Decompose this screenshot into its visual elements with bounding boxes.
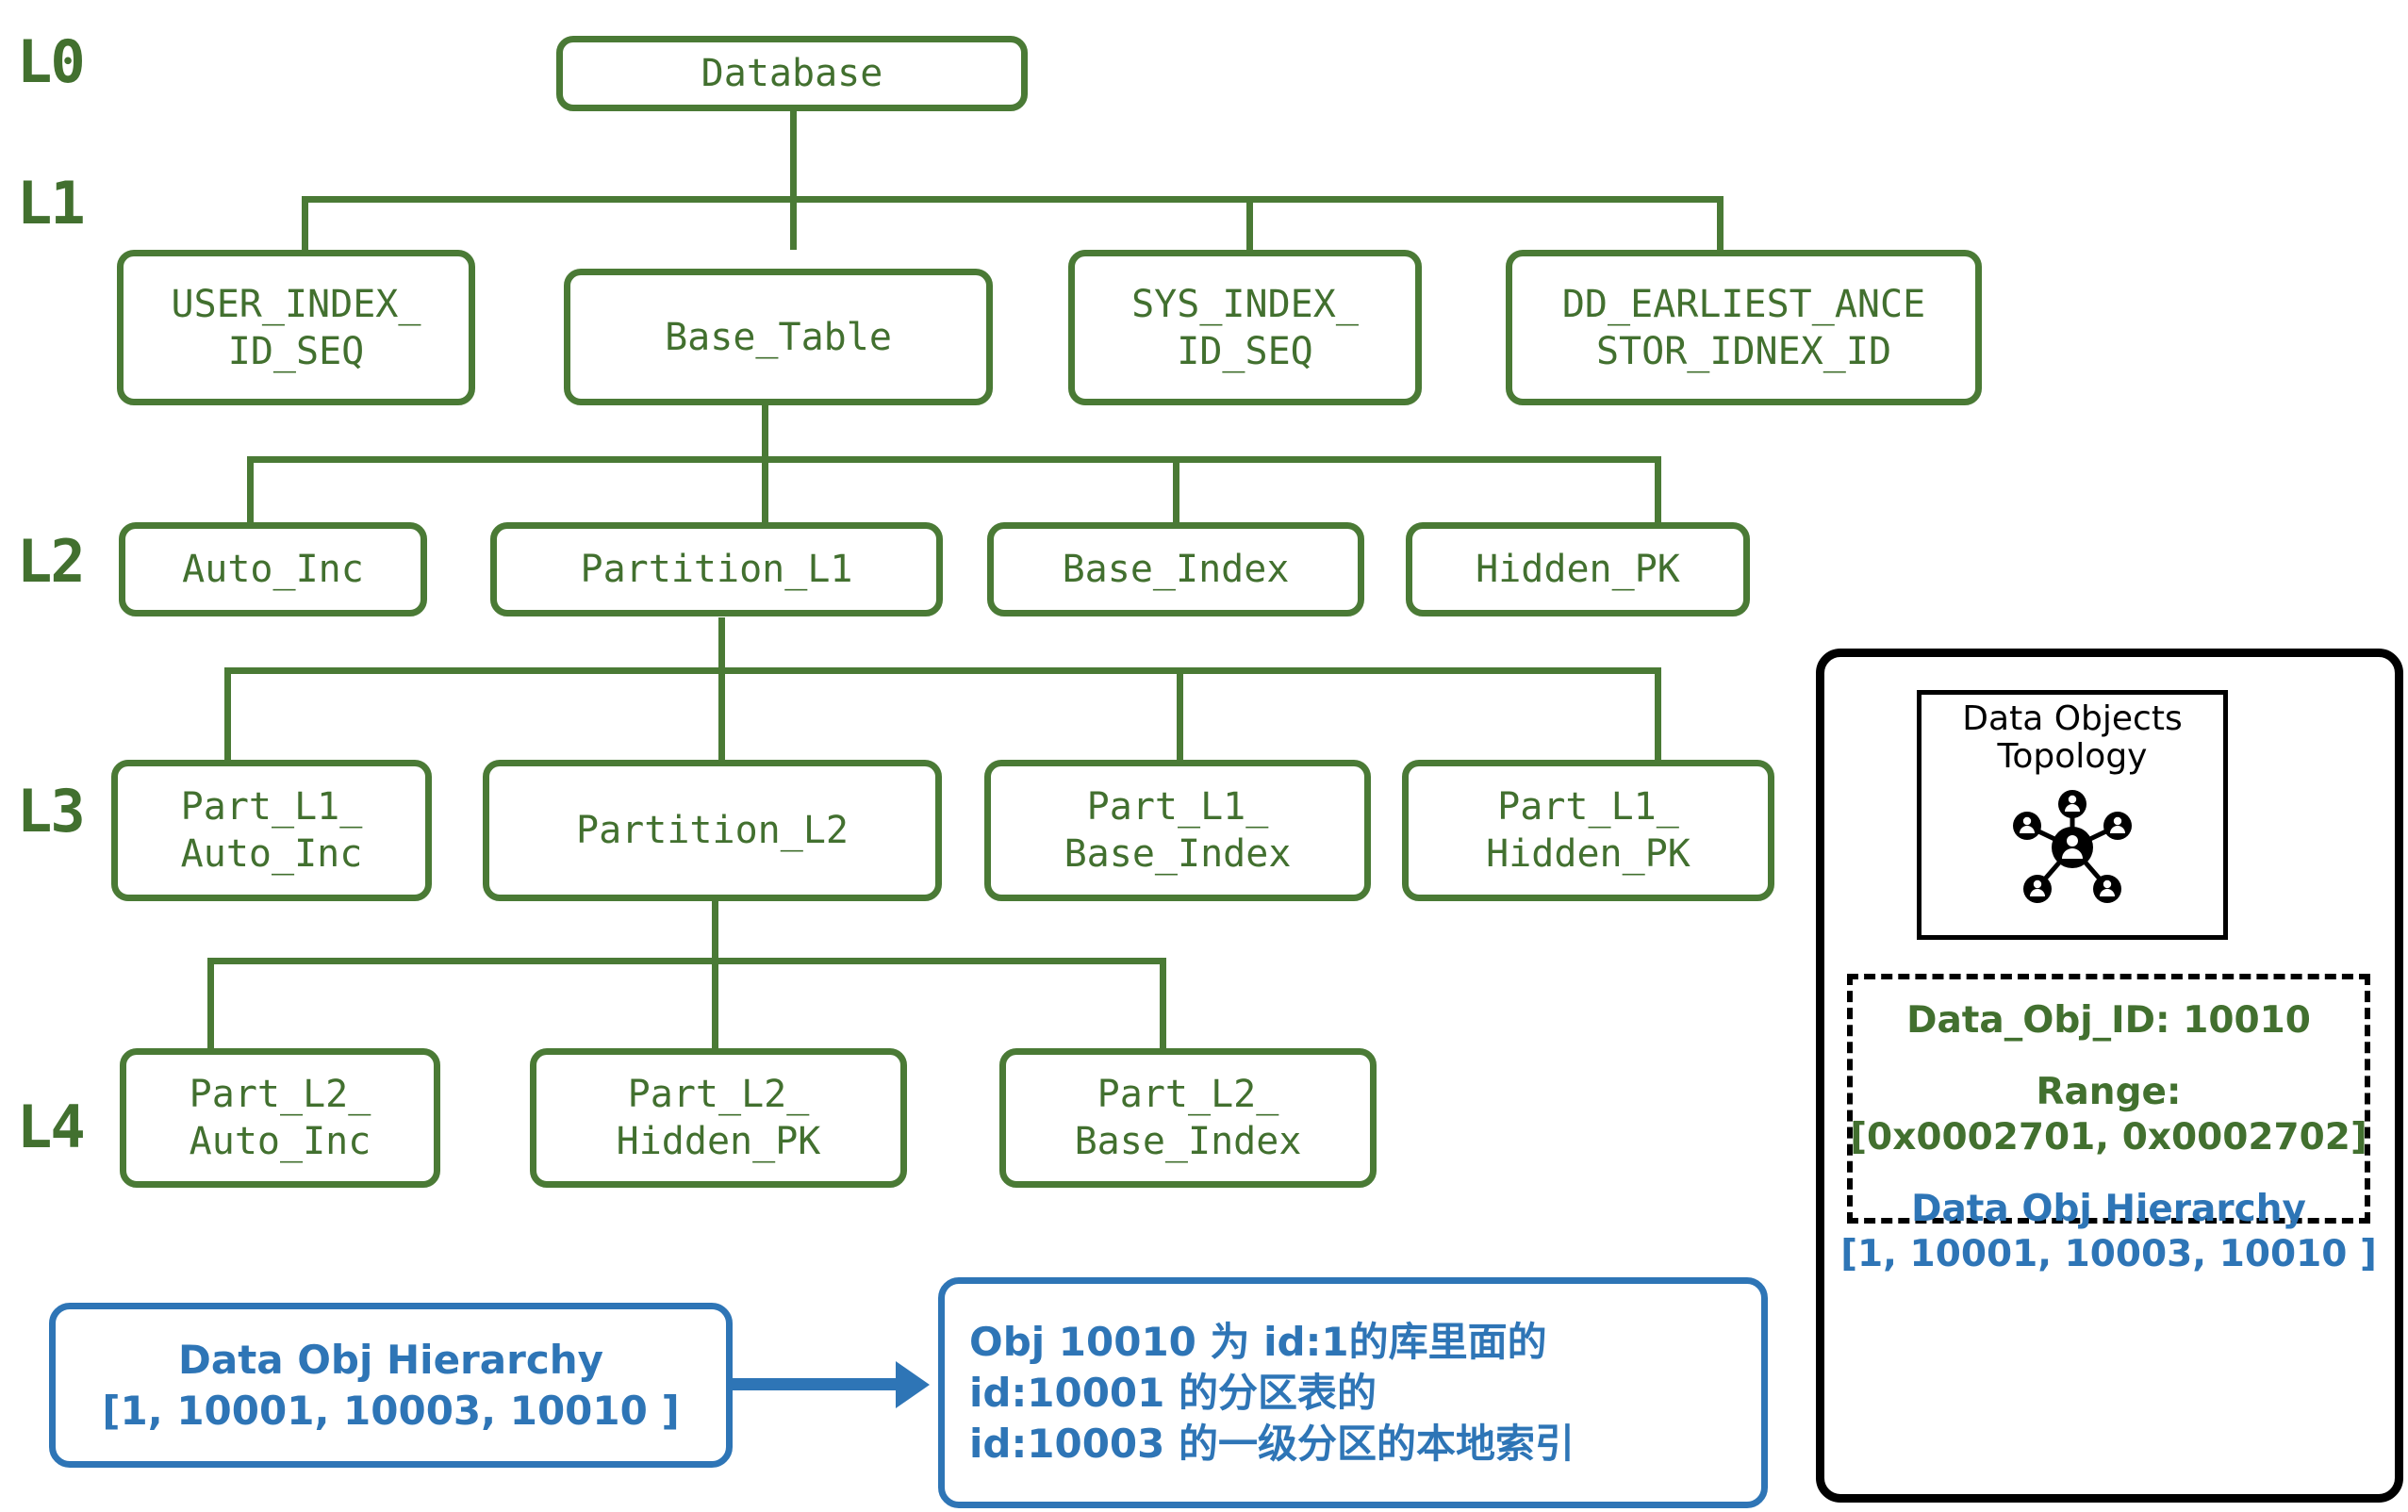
connector-l2-bus: [247, 456, 1661, 463]
connector-db-down: [790, 111, 797, 202]
node-label-line2: Auto_Inc: [190, 1118, 371, 1165]
connector-l4-drop-2: [712, 958, 718, 1048]
node-label: Base_Index: [1063, 546, 1290, 593]
level-label-l1: L1: [17, 174, 84, 233]
connector-l3-drop-2: [718, 667, 725, 760]
node-part-l1-base-index[interactable]: Part_L1_ Base_Index: [984, 760, 1371, 901]
connector-l4-drop-3: [1160, 958, 1166, 1048]
node-part-l1-auto-inc[interactable]: Part_L1_ Auto_Inc: [111, 760, 432, 901]
node-auto-inc[interactable]: Auto_Inc: [119, 522, 427, 616]
node-part-l1-hidden-pk[interactable]: Part_L1_ Hidden_PK: [1402, 760, 1774, 901]
node-label-line1: Part_L1_: [1087, 783, 1269, 830]
node-label-line1: USER_INDEX_: [172, 281, 421, 328]
topology-title-line2: Topology: [1998, 738, 2148, 776]
connector-l2-drop-2: [762, 456, 768, 522]
node-part-l2-auto-inc[interactable]: Part_L2_ Auto_Inc: [120, 1048, 440, 1188]
topology-title-line1: Data Objects: [1962, 700, 2182, 738]
node-user-index-id-seq[interactable]: USER_INDEX_ ID_SEQ: [117, 250, 475, 405]
connector-l3-drop-1: [224, 667, 231, 760]
callout-hierarchy-line2: [1, 10001, 10003, 10010 ]: [102, 1386, 679, 1437]
node-partition-l2[interactable]: Partition_L2: [483, 760, 942, 901]
arrow-head-icon: [896, 1361, 930, 1408]
connector-l2-drop-1: [247, 456, 254, 522]
level-label-l4: L4: [17, 1098, 84, 1157]
callout-explanation-line1: Obj 10010 为 id:1的库里面的: [969, 1317, 1547, 1368]
node-dd-earliest-ancestor-index-id[interactable]: DD_EARLIEST_ANCE STOR_IDNEX_ID: [1506, 250, 1982, 405]
detail-obj-id: Data_Obj_ID: 10010: [1906, 998, 2311, 1044]
node-label: Base_Table: [665, 314, 892, 361]
node-label-line1: Part_L1_: [1497, 783, 1679, 830]
connector-l3-drop-3: [1177, 667, 1183, 760]
level-label-l2: L2: [17, 533, 84, 591]
detail-hierarchy-value: [1, 10001, 10003, 10010 ]: [1840, 1232, 2377, 1277]
node-partition-l1[interactable]: Partition_L1: [490, 522, 943, 616]
connector-l1-drop-2: [790, 196, 797, 250]
connector-l1-drop-1: [302, 196, 308, 250]
connector-partition-l1-down: [718, 617, 725, 669]
connector-l3-bus: [224, 667, 1661, 674]
connector-l1-drop-3: [1246, 196, 1253, 250]
node-part-l2-hidden-pk[interactable]: Part_L2_ Hidden_PK: [530, 1048, 907, 1188]
connector-partition-l2-down: [712, 900, 718, 959]
callout-explanation[interactable]: Obj 10010 为 id:1的库里面的 id:10001 的分区表的 id:…: [938, 1277, 1768, 1508]
callout-hierarchy-line1: Data Obj Hierarchy: [178, 1335, 603, 1386]
node-label-line2: Base_Index: [1064, 830, 1292, 878]
node-base-table[interactable]: Base_Table: [564, 269, 993, 405]
detail-range-value: [0x0002701, 0x0002702]: [1850, 1115, 2367, 1160]
node-label-line2: Hidden_PK: [1486, 830, 1691, 878]
connector-l4-drop-1: [207, 958, 214, 1048]
connector-l3-drop-4: [1655, 667, 1661, 760]
node-label-line2: Auto_Inc: [181, 830, 363, 878]
node-label-line1: Part_L2_: [1097, 1071, 1279, 1118]
callout-explanation-line3: id:10003 的一级分区的本地索引: [969, 1419, 1575, 1470]
node-label-line1: SYS_INDEX_: [1131, 281, 1359, 328]
connector-l2-drop-4: [1655, 456, 1661, 522]
node-label-line1: Part_L1_: [181, 783, 363, 830]
node-database[interactable]: Database: [556, 36, 1028, 111]
arrow-shaft: [733, 1378, 898, 1390]
node-label-line2: ID_SEQ: [228, 328, 365, 375]
node-label-line2: STOR_IDNEX_ID: [1596, 328, 1891, 375]
node-label-line2: ID_SEQ: [1177, 328, 1313, 375]
node-label: Partition_L1: [581, 546, 853, 593]
level-label-l0: L0: [17, 33, 84, 91]
node-label-line1: Part_L2_: [190, 1071, 371, 1118]
node-label: Partition_L2: [576, 807, 849, 854]
legend-panel: Data Objects Topology: [1816, 649, 2403, 1503]
node-label: Database: [701, 50, 883, 97]
diagram-canvas: L0 L1 L2 L3 L4 Database USER_INDEX_ ID_S…: [0, 0, 2408, 1512]
connector-l1-drop-4: [1717, 196, 1724, 250]
node-label: Auto_Inc: [182, 546, 364, 593]
node-label-line1: Part_L2_: [628, 1071, 810, 1118]
node-label-line1: DD_EARLIEST_ANCE: [1562, 281, 1925, 328]
node-part-l2-base-index[interactable]: Part_L2_ Base_Index: [999, 1048, 1377, 1188]
node-sys-index-id-seq[interactable]: SYS_INDEX_ ID_SEQ: [1068, 250, 1422, 405]
connector-l1-bus: [302, 196, 1724, 203]
node-label-line2: Base_Index: [1075, 1118, 1302, 1165]
node-label: Hidden_PK: [1476, 546, 1680, 593]
node-base-index[interactable]: Base_Index: [987, 522, 1364, 616]
node-hidden-pk[interactable]: Hidden_PK: [1406, 522, 1750, 616]
connector-basetable-down: [762, 405, 768, 457]
detail-hierarchy-label: Data Obj Hierarchy: [1911, 1187, 2306, 1232]
detail-range-label: Range:: [2036, 1070, 2181, 1115]
node-label-line2: Hidden_PK: [617, 1118, 821, 1165]
connector-l2-drop-3: [1173, 456, 1179, 522]
connector-l4-bus: [207, 958, 1166, 964]
callout-explanation-line2: id:10001 的分区表的: [969, 1368, 1377, 1419]
network-nodes-icon: [2002, 783, 2143, 910]
level-label-l3: L3: [17, 782, 84, 841]
callout-data-obj-hierarchy[interactable]: Data Obj Hierarchy [1, 10001, 10003, 100…: [49, 1303, 733, 1468]
data-object-detail-box: Data_Obj_ID: 10010 Range: [0x0002701, 0x…: [1847, 974, 2370, 1224]
topology-box: Data Objects Topology: [1917, 690, 2228, 940]
